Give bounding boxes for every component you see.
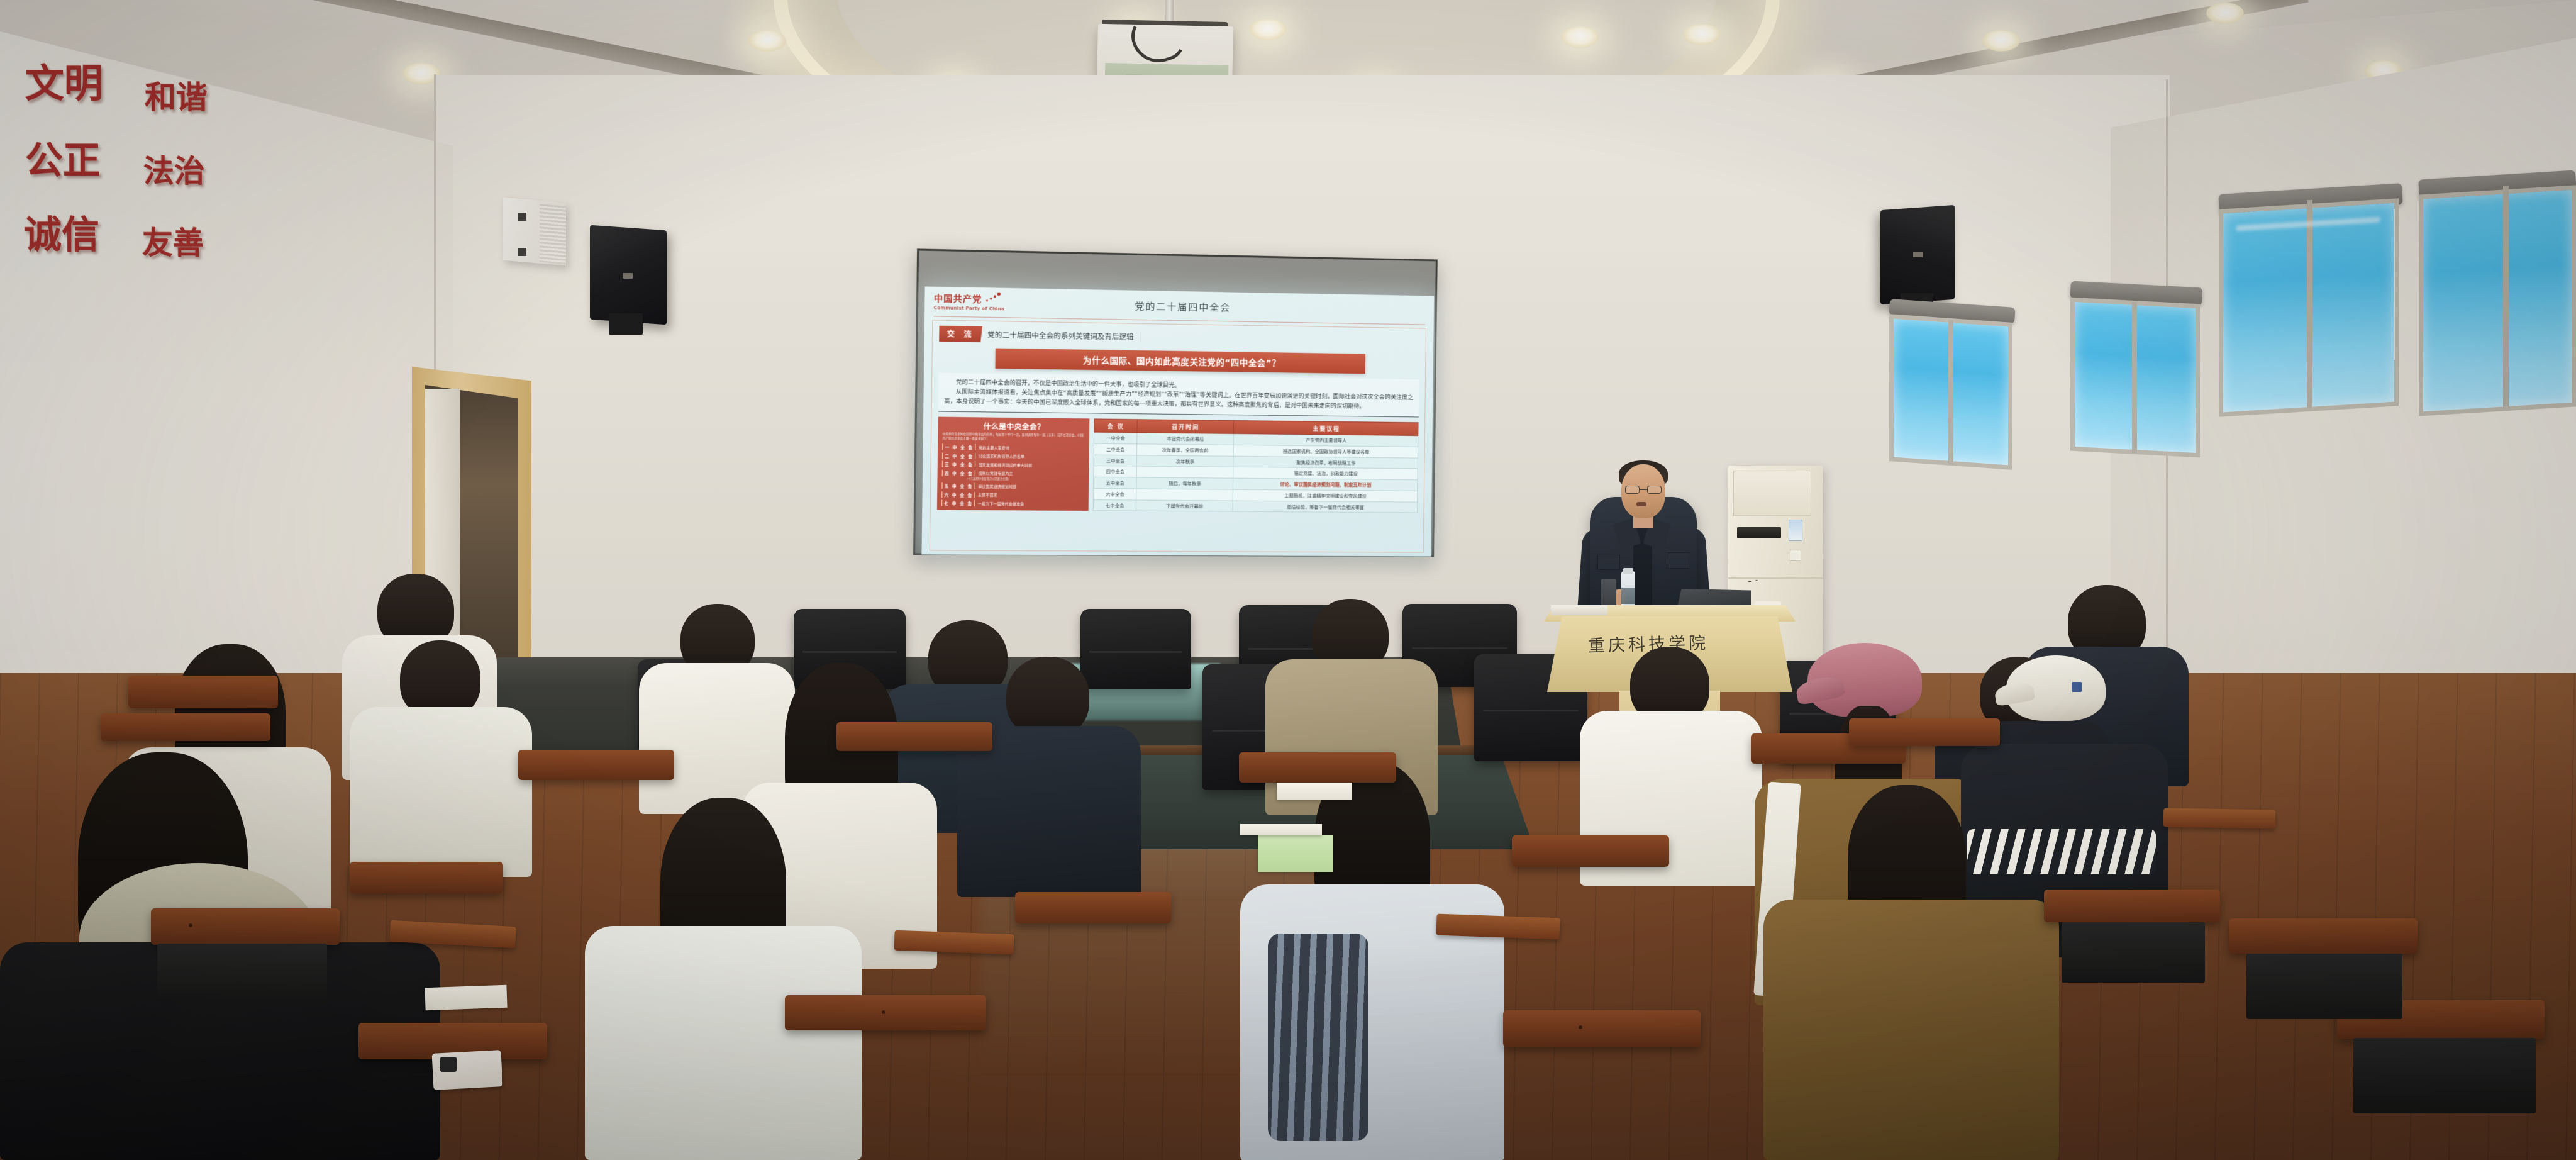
red-panel-item: 七 中 全 会一般为下一届党代会做准备 [941, 500, 1084, 508]
chair-bolt [189, 923, 192, 927]
wall-char-youshan: 友善 [142, 228, 204, 259]
table-cell: 五中全会 [1094, 477, 1136, 489]
person-body [585, 926, 862, 1160]
bottle-cap [1623, 568, 1633, 574]
ac-energy-label [1789, 520, 1802, 541]
red-panel-item-value: 惯例以党建专题为主 [978, 471, 1013, 477]
lecture-hall-photo: 文明 和谐 公正 法治 诚信 友善 中国共产党 Communist Party … [0, 0, 2576, 1160]
red-panel-item-value: 一般为下一届党代会做准备 [978, 501, 1024, 507]
table-cell: 下届党代会开幕前 [1136, 500, 1233, 512]
downlight-icon [1683, 24, 1721, 45]
plenum-schedule-table: 会 议 召开时间 主要议程 一中全会本届党代会闭幕后产生党内主要领导人二中全会次… [1093, 419, 1418, 513]
table-cell: 随后，每年秋季 [1136, 477, 1233, 489]
chair-armrest[interactable] [894, 930, 1014, 955]
slide-tag-badge: 交 流 [939, 326, 982, 342]
red-panel-items: 一 中 全 会党的主要人事安排二 中 全 会讨论国家机构领导人的名单三 中 全 … [941, 444, 1085, 508]
red-panel-item-key: 四 中 全 会 [942, 470, 976, 477]
slide-lower-section: 什么是中央全会？ 中央委员会全体会议即中央全会的简称，每届至少举行一次，届间通常… [937, 417, 1419, 513]
slide-tag-subtitle: 党的二十届四中全会的系列关键词及背后逻辑 [987, 330, 1141, 342]
vent-screw [518, 213, 526, 221]
ac-panel-seam [1728, 577, 1823, 579]
red-panel-item-value: 讨论国家机构领导人的名单 [979, 453, 1024, 459]
slide-body: 交 流 党的二十届四中全会的系列关键词及背后逻辑 为什么国际、国内如此高度关注党… [930, 320, 1426, 552]
table-body: 一中全会本届党代会闭幕后产生党内主要领导人二中全会次年春季，全国两会前推选国家机… [1094, 432, 1418, 513]
chair-bolt [882, 1010, 885, 1014]
person-body [957, 726, 1141, 897]
audience-chair[interactable] [1503, 1010, 1701, 1047]
person-stripe-scarf [1967, 829, 2156, 874]
table-row: 七中全会下届党代会开幕前总结经验，筹备下一届党代会相关事宜 [1094, 499, 1418, 513]
red-panel-item-key: 二 中 全 会 [942, 452, 976, 459]
wall-char-chengxin: 诚信 [24, 216, 99, 254]
chair-bolt [1579, 1025, 1582, 1029]
table-cell: 本届党代会闭幕后 [1137, 433, 1234, 445]
slide-header: 中国共产党 Communist Party of China 党的二十届四中全会 [924, 286, 1434, 324]
speaker-glasses-icon [1625, 486, 1662, 494]
red-panel-item: 三 中 全 会国家发展和经济建设的重大问题 [942, 461, 1085, 469]
ac-top-panel [1733, 471, 1811, 516]
red-panel-item-key: 七 中 全 会 [941, 500, 975, 506]
table-cell: 主题随机，注重精神文明建设和党风建设 [1233, 489, 1417, 502]
red-panel-item-value: 主题不固定 [978, 492, 997, 498]
cap-logo-icon [2072, 682, 2082, 692]
red-panel-item: 二 中 全 会讨论国家机构领导人的名单 [942, 452, 1085, 460]
red-panel-item-value: 审议国民经济规划问题 [978, 483, 1016, 489]
slide-header-title: 党的二十届四中全会 [1135, 299, 1231, 315]
cpc-star-flourish-icon [981, 291, 1003, 303]
audience-chair[interactable] [1239, 752, 1396, 783]
red-panel-item-key: 六 中 全 会 [941, 491, 975, 498]
window-blind-chain[interactable] [2394, 209, 2395, 360]
chair-armrest[interactable] [2163, 808, 2275, 828]
red-panel-note: 中央委员会全体会议即中央全会的简称，每届至少举行一次，届间通常每年一届（五年）召… [942, 433, 1085, 443]
audience-chair[interactable] [151, 908, 340, 945]
executive-chair[interactable] [1080, 609, 1191, 689]
ac-warning-label [1790, 550, 1801, 561]
window-mullion [2307, 200, 2312, 408]
cpc-logo-en: Communist Party of China [934, 305, 1004, 311]
table-cell [1136, 489, 1233, 501]
paper-sheet[interactable] [1277, 783, 1352, 800]
table-header-cell: 会 议 [1094, 419, 1137, 433]
table-cell: 四中全会 [1094, 466, 1136, 477]
window-pane [2419, 185, 2576, 416]
person-plaid-panel [1268, 934, 1368, 1141]
red-panel-item-key: 一 中 全 会 [942, 444, 976, 451]
audience-chair[interactable] [101, 713, 270, 741]
projection-screen: 中国共产党 Communist Party of China 党的二十届四中全会… [913, 248, 1438, 557]
audience-chair[interactable] [836, 722, 992, 751]
slide-paragraph-box: 党的二十届四中全会的召开，不仅是中国政治生活中的一件大事，也吸引了全球目光。 从… [938, 373, 1419, 418]
red-panel-item-key: 五 中 全 会 [941, 482, 975, 489]
table-cell: 总结经验，筹备下一届党代会相关事宜 [1233, 501, 1417, 513]
slide-tag-row: 交 流 党的二十届四中全会的系列关键词及背后逻辑 [939, 326, 1419, 349]
wall-char-fazhi: 法治 [143, 156, 205, 187]
core-values-wall-text: 文明 和谐 公正 法治 诚信 友善 [14, 54, 291, 211]
window-mullion [1948, 320, 1953, 465]
speaker-badge [623, 273, 633, 279]
red-panel-item: 六 中 全 会主题不固定 [941, 491, 1084, 499]
red-panel-item: 五 中 全 会审议国民经济规划问题 [941, 482, 1084, 490]
glasses-lens-left [1625, 486, 1640, 494]
glasses-lens-right [1647, 486, 1662, 494]
audience-chair[interactable] [2229, 918, 2418, 954]
downlight-icon [1982, 30, 2020, 52]
speaker-chest-pocket [1668, 552, 1690, 569]
speaker-chest-pocket [1597, 554, 1620, 570]
person-body [1763, 900, 2059, 1160]
slide-question-banner: 为什么国际、国内如此高度关注党的“四中全会”？ [996, 349, 1365, 374]
red-panel-item: 一 中 全 会党的主要人事安排 [942, 444, 1085, 452]
red-panel-item-subnote: （十六届四中全会首次以党建为主题） [965, 477, 1084, 482]
wall-char-wenming: 文明 [25, 64, 103, 103]
table-cell: 七中全会 [1094, 499, 1136, 511]
speaker-mount-bracket [609, 313, 643, 335]
notepad[interactable] [1258, 835, 1333, 872]
table-cell: 次年春季，全国两会前 [1137, 444, 1234, 456]
table-cell: 一中全会 [1094, 432, 1137, 444]
slide-red-panel: 什么是中央全会？ 中央委员会全体会议即中央全会的简称，每届至少举行一次，届间通常… [937, 417, 1090, 511]
podium-book [1551, 605, 1607, 615]
person-body [350, 707, 532, 877]
speaker-badge [1913, 252, 1923, 257]
red-panel-item-key: 三 中 全 会 [942, 461, 976, 468]
air-vent-grille-icon [540, 204, 566, 264]
table-header-cell: 召开时间 [1137, 420, 1234, 434]
chair-armrest[interactable] [1436, 914, 1560, 940]
audience-chair[interactable] [1849, 718, 2000, 746]
wall-char-gongzheng: 公正 [25, 142, 101, 180]
speaker-mouth [1636, 502, 1646, 506]
audience-chair[interactable] [2044, 890, 2220, 922]
slide-content: 中国共产党 Communist Party of China 党的二十届四中全会… [921, 286, 1434, 556]
window-mullion [2503, 186, 2509, 407]
person-head [1006, 657, 1089, 737]
downlight-icon [1561, 26, 1599, 48]
chair-seat-pad [2062, 922, 2205, 983]
phone-camera-icon [440, 1057, 457, 1072]
ac-display-screen [1737, 527, 1781, 538]
audience-chair[interactable] [518, 750, 674, 780]
chair-seat-pad [2353, 1038, 2536, 1113]
audience-chair[interactable] [1512, 835, 1669, 867]
paper-sheet[interactable] [1240, 824, 1322, 835]
downlight-icon [1249, 19, 1287, 40]
red-panel-item: 四 中 全 会惯例以党建专题为主 [942, 470, 1085, 477]
audience-chair[interactable] [128, 676, 278, 708]
audience-chair[interactable] [350, 862, 503, 893]
table-cell: 二中全会 [1094, 443, 1137, 455]
downlight-icon [748, 30, 786, 52]
paper-sheet[interactable] [425, 985, 507, 1011]
chair-seat-pad [157, 944, 327, 1004]
vent-screw [518, 248, 526, 256]
table-cell: 次年秋季 [1136, 455, 1233, 467]
audience-chair[interactable] [785, 995, 986, 1030]
table-cell: 六中全会 [1094, 488, 1136, 499]
bottle-label [1621, 588, 1635, 604]
red-panel-item-value: 党的主要人事安排 [979, 445, 1009, 451]
window-mullion [2132, 302, 2137, 453]
glasses-bridge [1640, 489, 1647, 490]
table-cell: 讨论、审议国民经济规划问题，制定五年计划 [1233, 478, 1418, 491]
red-panel-item-value: 国家发展和经济建设的重大问题 [979, 462, 1033, 468]
red-panel-title: 什么是中央全会？ [943, 421, 1085, 433]
audience-chair[interactable] [1015, 892, 1171, 923]
downlight-icon [2206, 3, 2244, 24]
chair-seat-pad [2246, 954, 2402, 1019]
wall-char-hexie: 和谐 [145, 82, 208, 113]
table-cell: 三中全会 [1094, 455, 1136, 466]
table-cell [1136, 466, 1233, 478]
